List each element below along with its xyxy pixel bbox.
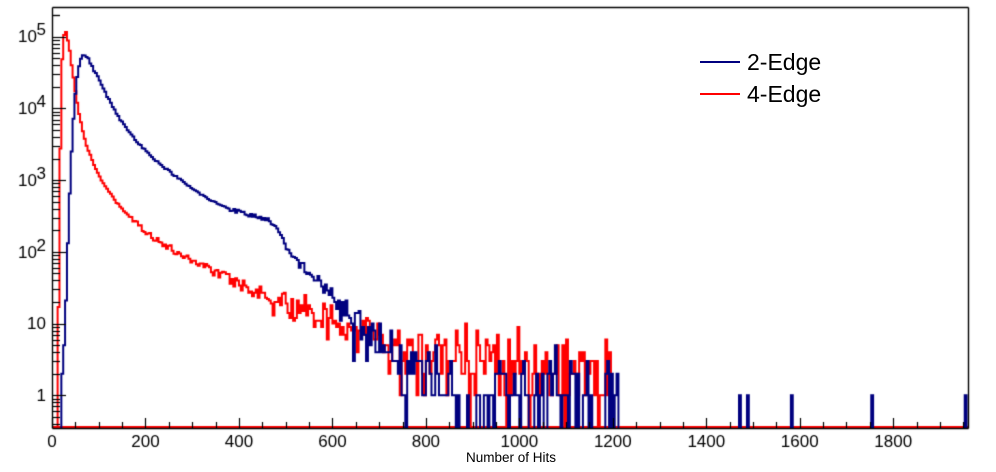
- histogram-canvas: [0, 0, 996, 472]
- legend-entry-4-edge: 4-Edge: [700, 78, 821, 110]
- histogram-figure: 2-Edge 4-Edge Number of Hits: [0, 0, 996, 472]
- legend-line-icon-2-edge: [700, 61, 740, 63]
- legend-label-4-edge: 4-Edge: [747, 83, 821, 106]
- legend-line-icon-4-edge: [700, 93, 740, 95]
- x-axis-title: Number of Hits: [466, 450, 556, 465]
- legend: 2-Edge 4-Edge: [700, 46, 821, 110]
- legend-entry-2-edge: 2-Edge: [700, 46, 821, 78]
- legend-label-2-edge: 2-Edge: [747, 51, 821, 74]
